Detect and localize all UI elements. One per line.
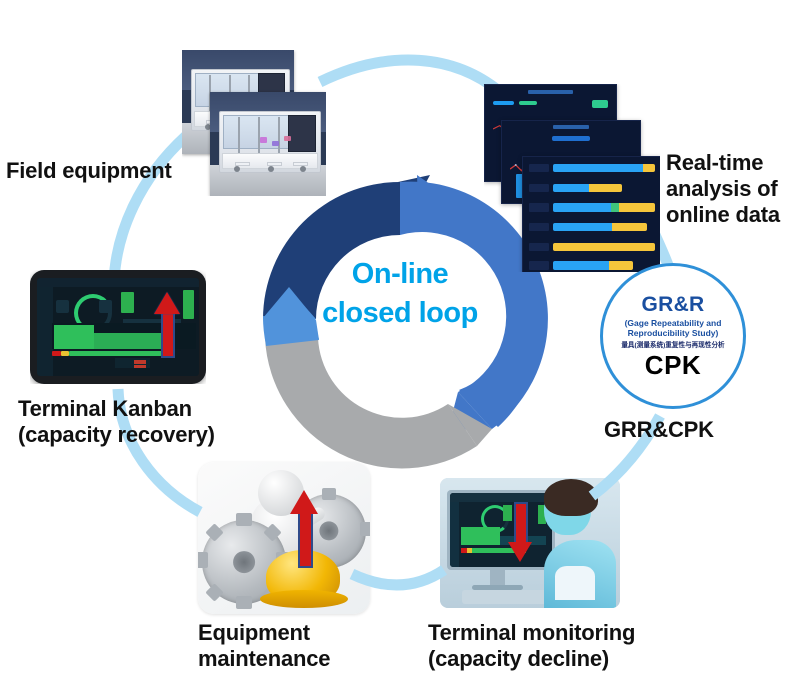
center-label: On-line closed loop [300,255,500,333]
label-field-equipment: Field equipment [6,158,172,184]
field-equipment-image [182,50,326,196]
label-terminal-kanban: Terminal Kanban (capacity recovery) [18,396,215,448]
cpk-label: CPK [645,352,701,378]
label-terminal-monitoring: Terminal monitoring (capacity decline) [428,620,635,672]
diagram-canvas: On-line closed loop [0,0,800,684]
center-line-2: closed loop [300,294,500,333]
grr-heading: GR&R [641,294,704,315]
terminal-kanban-image [30,270,206,384]
label-realtime-analysis: Real-time analysis of online data [666,150,780,228]
center-line-1: On-line [300,255,500,294]
dashboard-front [522,156,660,272]
realtime-dashboard-images [484,84,660,272]
grr-cpk-circle: GR&R (Gage Repeatability and Reproducibi… [600,263,746,409]
label-grr-cpk: GRR&CPK [604,417,714,443]
grr-chinese-text: 量具(测量系统)重复性与再现性分析 [621,343,724,350]
kanban-up-arrow [154,292,180,356]
label-equipment-maintenance: Equipment maintenance [198,620,330,672]
grr-subtitle: (Gage Repeatability and Reproducibility … [603,318,743,339]
